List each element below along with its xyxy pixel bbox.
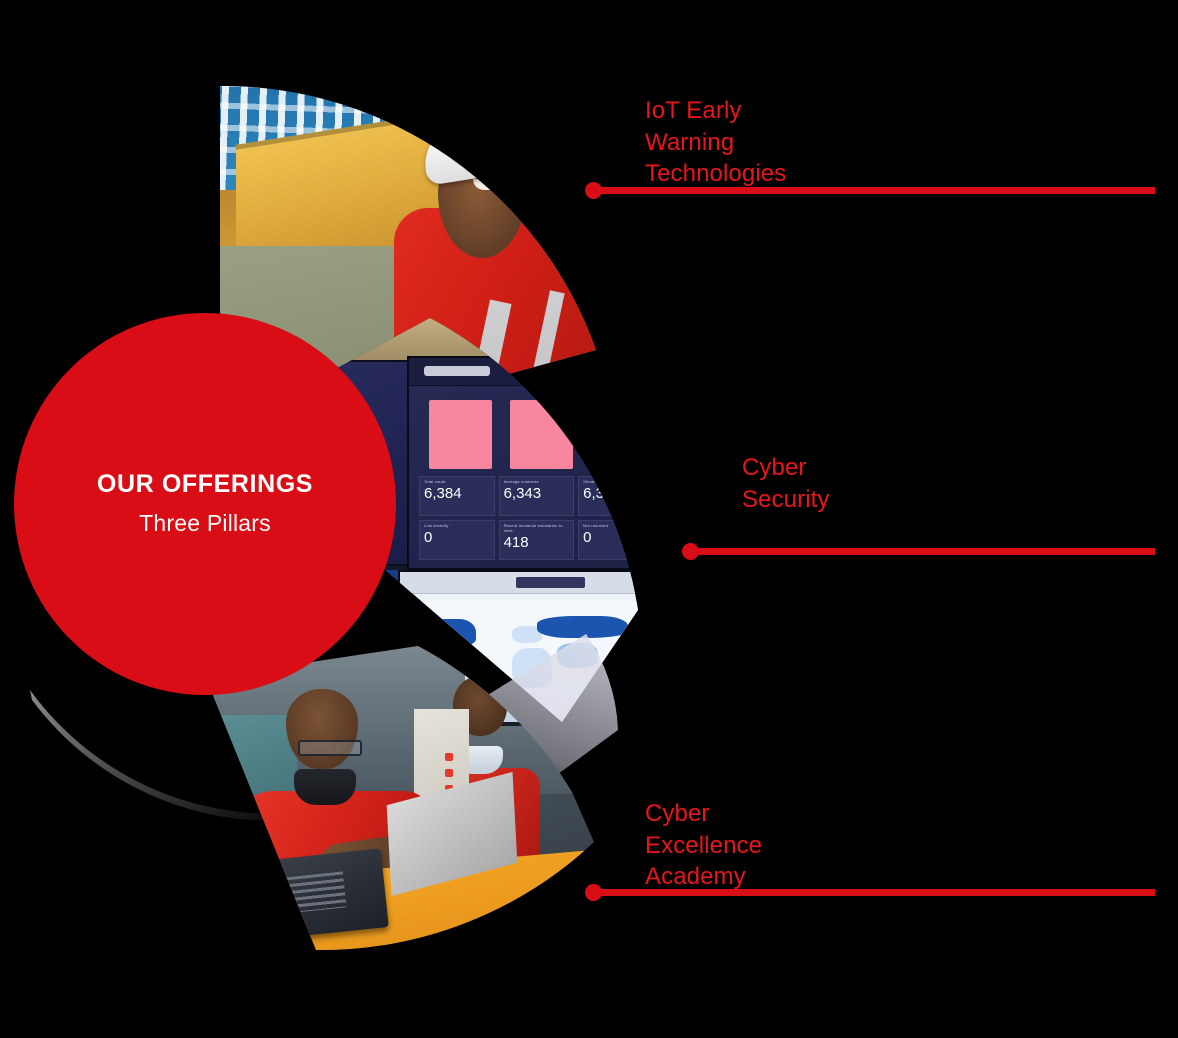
shirt-piping [274, 861, 286, 940]
dashboard-bar-chart [429, 400, 654, 469]
kpi-label: Not resolved [583, 523, 649, 528]
bar [591, 400, 654, 469]
pillar-label-iot-early-warning[interactable]: IoT Early Warning Technologies [645, 95, 786, 190]
bar [429, 400, 492, 469]
map-region-asia [557, 643, 598, 668]
pillar-label-cyber-excellence-academy[interactable]: Cyber Excellence Academy [645, 798, 762, 893]
eyeglasses [298, 740, 362, 756]
toolbar-pill [603, 366, 644, 376]
map-region-africa [512, 648, 553, 688]
kpi-tile: Not resolved 0 [578, 520, 654, 560]
kpi-tile: Total count 6,384 [419, 476, 495, 516]
map-region-russia [537, 616, 628, 638]
kpi-tile: Recent incidents escalation to desk 418 [499, 520, 575, 560]
kpi-label: Situation severity [583, 479, 649, 484]
toolbar-pill [424, 366, 490, 376]
kpi-tile: Situation severity 6,384 [578, 476, 654, 516]
smile [473, 179, 507, 190]
kpi-tile: Average connects 6,343 [499, 476, 575, 516]
analyst-head [286, 689, 358, 769]
pillar-label-cyber-security[interactable]: Cyber Security [742, 452, 830, 515]
kpi-value: 418 [504, 535, 570, 550]
kpi-label: Low severity [424, 523, 490, 528]
kpi-label: Recent incidents escalation to desk [504, 523, 570, 533]
kpi-tile: Low severity 0 [419, 520, 495, 560]
connector-line [694, 548, 1155, 555]
page-subtitle: Three Pillars [139, 510, 271, 537]
kpi-value: 6,384 [424, 486, 490, 501]
bar [510, 400, 573, 469]
white-hard-hat [419, 112, 531, 186]
keyboard [203, 903, 299, 957]
soc-dashboard-screen: Total count 6,384 Average connects 6,343… [407, 356, 662, 570]
kpi-label: Average connects [504, 479, 570, 484]
dashboard-kpi-grid: Total count 6,384 Average connects 6,343… [419, 476, 654, 560]
center-circle-our-offerings[interactable]: OUR OFFERINGS Three Pillars [14, 313, 396, 695]
kpi-value: 0 [583, 530, 649, 545]
kpi-label: Total count [424, 479, 490, 484]
desk-phone [268, 848, 389, 939]
infographic-canvas: ERF 1254 [0, 0, 1178, 1038]
face-mask [294, 769, 356, 805]
kpi-value: 6,343 [504, 486, 570, 501]
map-region-oceania [598, 673, 631, 693]
map-browser-chrome [400, 572, 662, 594]
page-title: OUR OFFERINGS [97, 471, 313, 499]
kpi-value: 6,384 [583, 486, 649, 501]
map-region-north-america [420, 619, 476, 649]
kpi-value: 0 [424, 530, 490, 545]
toolbar-pill [552, 366, 593, 376]
